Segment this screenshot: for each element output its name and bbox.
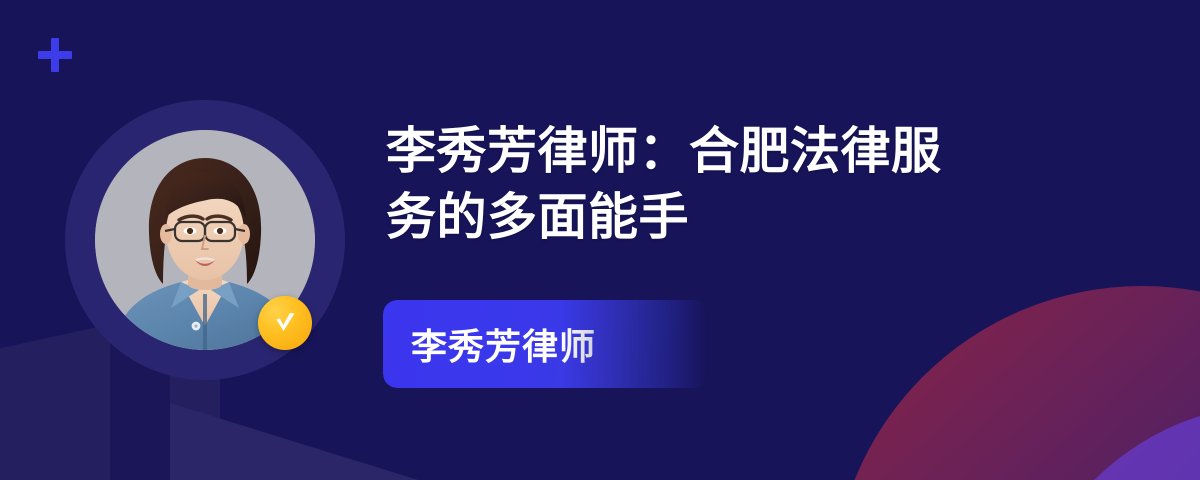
cta-container: 李秀芳律师 [383, 300, 708, 388]
avatar [65, 100, 345, 380]
plus-icon [38, 38, 72, 72]
banner-content: 李秀芳律师：合肥法律服务的多面能手 [386, 118, 1176, 250]
page-title: 李秀芳律师：合肥法律服务的多面能手 [386, 118, 986, 250]
lawyer-name-button[interactable]: 李秀芳律师 [383, 300, 708, 388]
lawyer-profile-banner: 李秀芳律师：合肥法律服务的多面能手 李秀芳律师 [0, 0, 1200, 480]
verified-check-icon [258, 296, 312, 350]
